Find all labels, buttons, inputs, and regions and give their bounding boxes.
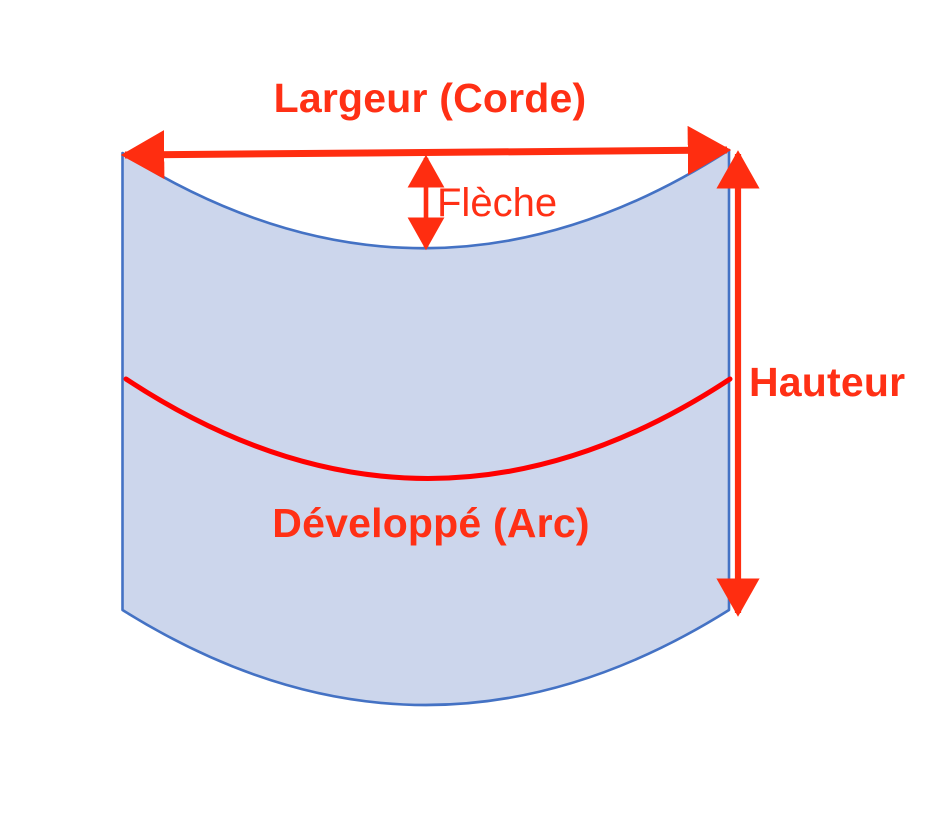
largeur-dimension-arrow [125,150,727,155]
fleche-label: Flèche [437,183,557,223]
curved-panel-diagram [0,0,950,830]
hauteur-label: Hauteur [749,362,905,403]
diagram-canvas: Largeur (Corde) Flèche Hauteur Développé… [0,0,950,830]
largeur-label: Largeur (Corde) [0,78,860,119]
developpe-label: Développé (Arc) [0,503,862,544]
